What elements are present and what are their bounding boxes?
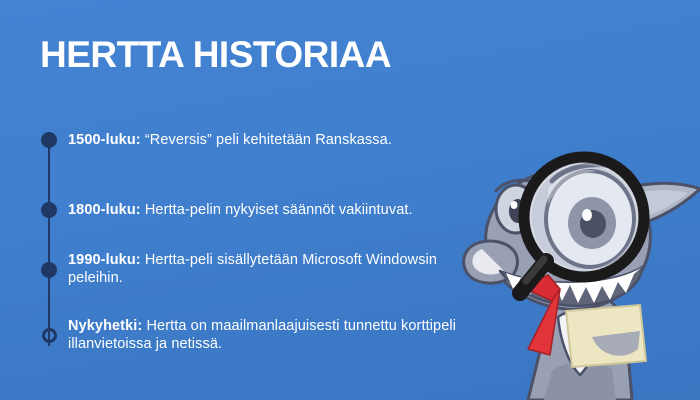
timeline-item-lead: 1500-luku: — [68, 132, 141, 148]
shark-mascot-illustration — [456, 125, 700, 400]
infographic-canvas: HERTTA HISTORIAA 1500-luku: “Reversis” p… — [0, 0, 700, 400]
page-title: HERTTA HISTORIAA — [40, 36, 391, 75]
timeline-item-lead: Nykyhetki: — [68, 318, 142, 334]
timeline-item-body: Hertta-pelin nykyiset säännöt vakiintuva… — [141, 202, 413, 218]
timeline-marker-filled-dot — [41, 262, 57, 278]
timeline-item-lead: 1800-luku: — [68, 202, 141, 218]
timeline-marker-filled-dot — [41, 202, 57, 218]
timeline-item-text: 1800-luku: Hertta-pelin nykyiset säännöt… — [68, 201, 468, 219]
playing-card — [566, 305, 646, 367]
timeline-marker-filled-dot — [41, 132, 57, 148]
timeline-item-text: 1990-luku: Hertta-peli sisällytetään Mic… — [68, 251, 468, 287]
timeline-axis-line — [48, 140, 50, 346]
timeline-item-body: “Reversis” peli kehitetään Ranskassa. — [141, 132, 392, 148]
timeline: 1500-luku: “Reversis” peli kehitetään Ra… — [0, 110, 470, 380]
timeline-item-text: 1500-luku: “Reversis” peli kehitetään Ra… — [68, 131, 468, 149]
timeline-marker-hollow-dot — [42, 328, 57, 343]
timeline-item-lead: 1990-luku: — [68, 252, 141, 268]
timeline-item-text: Nykyhetki: Hertta on maailmanlaajuisesti… — [68, 317, 468, 353]
